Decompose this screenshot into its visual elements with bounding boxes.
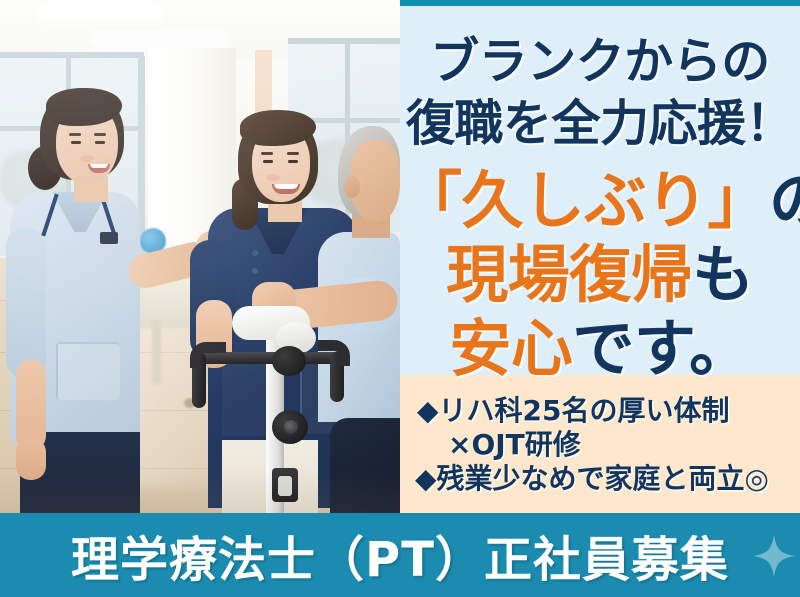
headline-line-5-tail: です。 bbox=[572, 312, 750, 385]
bottom-banner: 理学療法士（PT）正社員募集 bbox=[0, 513, 800, 597]
headline-panel: ブランクからの 復職を全力応援！ 「久しぶり」の 現場復帰も 安心です。 ◆リハ… bbox=[400, 0, 800, 513]
headline-emphasis-anshin: 安心 bbox=[449, 312, 572, 385]
panel-top-rule bbox=[400, 0, 800, 6]
photo-bottom-shade bbox=[0, 470, 400, 513]
bullet-item-3: ◆残業少なめで家庭と両立◎ bbox=[400, 457, 800, 497]
headline-line-2: 復職を全力応援！ bbox=[400, 84, 800, 155]
job-ad-banner: ブランクからの 復職を全力応援！ 「久しぶり」の 現場復帰も 安心です。 ◆リハ… bbox=[0, 0, 800, 597]
job-title-text: 理学療法士（PT）正社員募集 bbox=[0, 513, 800, 597]
photo-light-overlay bbox=[0, 0, 400, 513]
headline-line-1: ブランクからの bbox=[400, 22, 800, 93]
rehab-photo bbox=[0, 0, 400, 513]
headline-line-5: 安心です。 bbox=[400, 298, 800, 388]
sparkle-icon bbox=[752, 534, 796, 578]
